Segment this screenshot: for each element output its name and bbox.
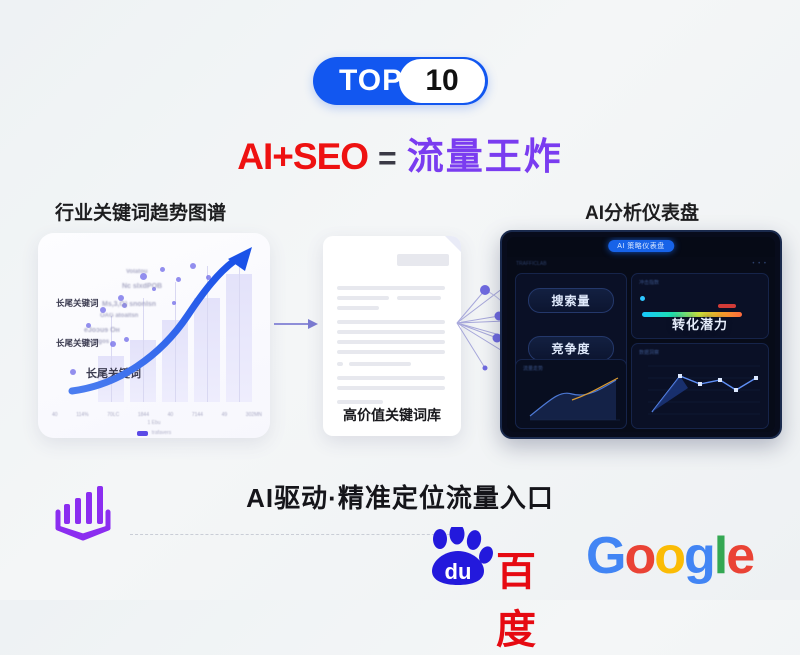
impact-index-label: 冲击指数	[639, 279, 659, 286]
axis-tick: 40	[168, 412, 174, 418]
dashboard-screen: AI 策略仪表盘 TRAFFICLAB • • • 搜索量 竞争度 转化潜力 冲…	[507, 237, 775, 432]
doc-text-line	[349, 362, 411, 366]
top-badge-number: 10	[399, 59, 485, 103]
heat-gradient-bar	[642, 296, 754, 301]
page-fold-icon	[445, 236, 461, 252]
trend-legend: trafavers	[38, 430, 270, 436]
google-letter: o	[654, 527, 684, 585]
headline-equals: =	[378, 140, 397, 176]
slide-canvas: TOP 10 AI+SEO=流量王炸 行业关键词趋势图谱 AI分析仪表盘	[0, 0, 800, 600]
doc-text-line	[337, 306, 379, 310]
right-section-caption: AI分析仪表盘	[585, 198, 699, 225]
page-title: AI+SEO=流量王炸	[0, 126, 800, 180]
growth-arrow-icon	[56, 245, 262, 402]
doc-text-line	[337, 296, 389, 300]
doc-text-line	[337, 286, 445, 290]
axis-tick: 1844	[138, 412, 149, 418]
google-letter: l	[714, 527, 726, 585]
metric-button-competition[interactable]: 竞争度	[528, 336, 614, 361]
axis-tick: 302MN	[246, 412, 262, 418]
conversion-potential-overlay: 转化潜力	[632, 314, 768, 333]
trend-chart-plot: Volatou Nc sIxdPOB Ms,3,O) snonlsn OAG a…	[56, 245, 260, 402]
axis-tick: 7144	[192, 412, 203, 418]
doc-text-line	[337, 350, 445, 354]
left-section-caption: 行业关键词趋势图谱	[55, 198, 226, 225]
baidu-logo: du 百度	[424, 525, 572, 587]
footer-divider	[130, 534, 460, 536]
headline-right: 流量王炸	[407, 136, 563, 177]
doc-text-line	[337, 386, 445, 390]
dashboard-brand: TRAFFICLAB	[516, 261, 547, 267]
doc-bullet	[337, 362, 343, 366]
baidu-latin-text: du	[445, 559, 472, 584]
area-chart	[516, 360, 626, 428]
axis-tick: 49	[222, 412, 228, 418]
heat-peak-tag	[718, 304, 736, 308]
flow-arrow-icon	[274, 318, 318, 330]
axis-tick: 70LC	[107, 412, 119, 418]
footer-tagline: AI驱动·精准定位流量入口	[0, 478, 800, 515]
insight-chart-panel: 数据洞察	[631, 343, 769, 429]
dashboard-menu-icon[interactable]: • • •	[752, 261, 767, 267]
doc-text-line	[337, 320, 445, 324]
metric-button-search-volume[interactable]: 搜索量	[528, 288, 614, 313]
google-letter: G	[586, 527, 624, 585]
google-letter: o	[624, 527, 654, 585]
trend-axis-ticks: 40 114% 70LC 1844 40 7144 49 302MN	[52, 412, 262, 418]
impact-index-panel: 冲击指数 转化潜力	[631, 273, 769, 339]
google-letter: g	[684, 527, 714, 585]
doc-text-line	[337, 376, 445, 380]
axis-tick: 114%	[76, 412, 88, 418]
axis-subtitle: 1 Ebu	[38, 420, 270, 426]
analytics-pedestal-icon	[48, 482, 118, 548]
keyword-library-title: 高价值关键词库	[323, 405, 461, 425]
google-letter: e	[726, 527, 753, 585]
dashboard-title-pill: AI 策略仪表盘	[608, 240, 674, 252]
top-badge-label: TOP	[339, 64, 403, 98]
traffic-trend-panel: 流量走势	[515, 359, 627, 429]
top-rank-badge: TOP 10	[313, 57, 488, 105]
baidu-chinese-text: 百度	[496, 539, 572, 655]
heat-bar-knob[interactable]	[640, 296, 645, 301]
google-logo: Google	[586, 530, 753, 582]
keyword-library-card: 高价值关键词库	[323, 236, 461, 436]
doc-text-line	[337, 330, 445, 334]
doc-text-line	[337, 400, 383, 404]
search-engine-logos: du 百度 Google	[424, 524, 753, 588]
legend-label: trafavers	[152, 430, 171, 436]
doc-text-line	[397, 296, 441, 300]
keyword-trend-card: Volatou Nc sIxdPOB Ms,3,O) snonlsn OAG a…	[38, 233, 270, 438]
legend-swatch	[137, 431, 148, 436]
doc-header-block	[397, 254, 449, 266]
ai-dashboard-card: AI 策略仪表盘 TRAFFICLAB • • • 搜索量 竞争度 转化潜力 冲…	[500, 230, 782, 439]
line-chart	[632, 344, 768, 428]
axis-tick: 40	[52, 412, 58, 418]
baidu-paw-icon: du	[424, 527, 496, 587]
dashboard-topbar: AI 策略仪表盘	[507, 237, 775, 257]
doc-text-line	[337, 340, 445, 344]
headline-left: AI+SEO	[237, 136, 368, 177]
